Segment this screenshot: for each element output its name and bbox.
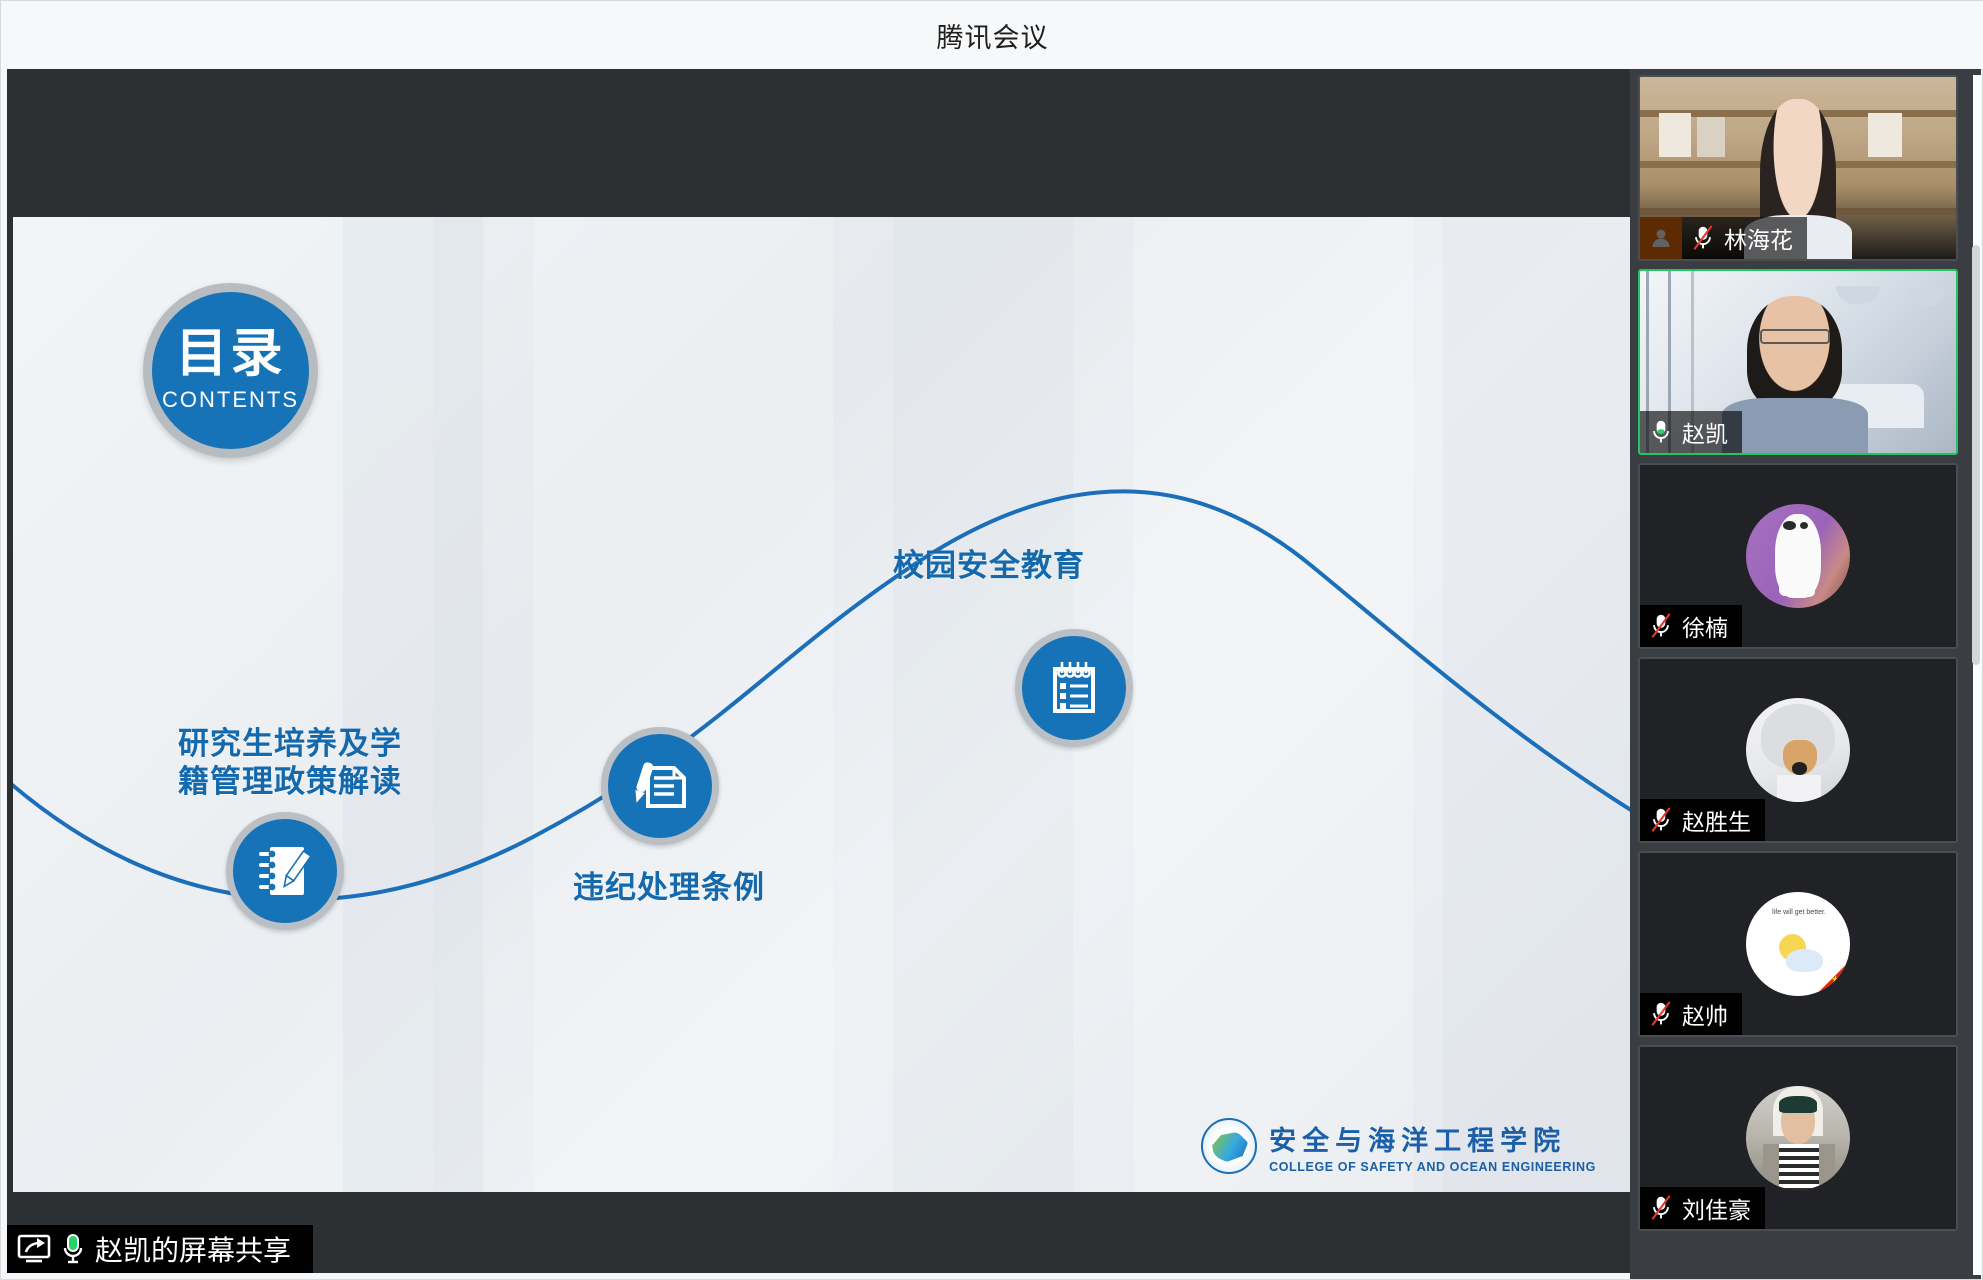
contents-title-en: CONTENTS <box>162 387 299 413</box>
slide-footer-logo: 安全与海洋工程学院 COLLEGE OF SAFETY AND OCEAN EN… <box>1201 1118 1596 1174</box>
college-name-en: COLLEGE OF SAFETY AND OCEAN ENGINEERING <box>1269 1160 1596 1174</box>
participant-tile[interactable]: 赵胜生 <box>1638 657 1958 843</box>
participant-tile[interactable]: 林海花 <box>1638 75 1958 261</box>
participant-name: 林海花 <box>1724 221 1793 255</box>
participant-name: 赵凯 <box>1682 415 1728 449</box>
checklist-icon <box>1042 656 1106 720</box>
screen-share-label: 赵凯的屏幕共享 <box>95 1229 291 1269</box>
mic-on-icon <box>1648 419 1674 445</box>
avatar <box>1746 504 1850 608</box>
shared-screen-stage[interactable]: 目录 CONTENTS <box>7 69 1632 1273</box>
mic-off-icon <box>1648 1001 1674 1027</box>
participant-name: 赵胜生 <box>1682 803 1751 837</box>
window-title: 腾讯会议 <box>937 16 1049 55</box>
slide-node-3-label: 校园安全教育 <box>893 547 1333 585</box>
participant-tile[interactable]: 徐楠 <box>1638 463 1958 649</box>
tencent-meeting-window: 腾讯会议 目录 CONTENTS <box>0 0 1983 1280</box>
participant-nameplate: 赵胜生 <box>1640 799 1765 841</box>
participant-tile[interactable]: 刘佳豪 <box>1638 1045 1958 1231</box>
slide-node-2 <box>601 727 719 845</box>
mic-off-icon <box>1690 225 1716 251</box>
contents-bubble: 目录 CONTENTS <box>143 283 318 458</box>
participant-name: 刘佳豪 <box>1682 1191 1751 1225</box>
contents-title-cn: 目录 <box>175 328 285 380</box>
college-emblem-icon <box>1201 1118 1257 1174</box>
slide-node-1 <box>226 812 344 930</box>
participant-nameplate: 林海花 <box>1640 217 1807 259</box>
sidebar-scrollbar-track[interactable] <box>1973 75 1981 1275</box>
participant-sidebar[interactable]: 林海花 赵 <box>1630 69 1981 1279</box>
screen-share-icon <box>17 1234 51 1264</box>
screen-share-status-bar: 赵凯的屏幕共享 <box>7 1225 313 1273</box>
participant-tile[interactable]: 赵凯 <box>1638 269 1958 455</box>
mic-off-icon <box>1648 807 1674 833</box>
slide-node-3 <box>1015 629 1133 747</box>
slide-node-1-label: 研究生培养及学 籍管理政策解读 <box>178 725 578 801</box>
participant-name: 徐楠 <box>1682 609 1728 643</box>
participant-nameplate: 赵帅 <box>1640 993 1742 1035</box>
participant-tile[interactable]: life will get better. 赵帅 <box>1638 851 1958 1037</box>
participant-nameplate: 刘佳豪 <box>1640 1187 1765 1229</box>
title-bar: 腾讯会议 <box>1 1 1983 69</box>
participant-name: 赵帅 <box>1682 997 1728 1031</box>
notebook-pencil-icon <box>253 839 317 903</box>
participant-nameplate: 赵凯 <box>1640 411 1742 453</box>
document-pen-icon <box>628 754 692 818</box>
avatar <box>1746 1086 1850 1190</box>
participant-nameplate: 徐楠 <box>1640 605 1742 647</box>
avatar <box>1746 698 1850 802</box>
avatar: life will get better. <box>1746 892 1850 996</box>
college-name-cn: 安全与海洋工程学院 <box>1269 1119 1596 1158</box>
mic-off-icon <box>1648 1195 1674 1221</box>
mic-off-icon <box>1648 613 1674 639</box>
mic-on-icon <box>61 1233 85 1265</box>
presentation-slide: 目录 CONTENTS <box>13 217 1632 1192</box>
slide-node-2-label: 违纪处理条例 <box>573 869 1013 907</box>
sidebar-scrollbar-thumb[interactable] <box>1972 245 1980 665</box>
